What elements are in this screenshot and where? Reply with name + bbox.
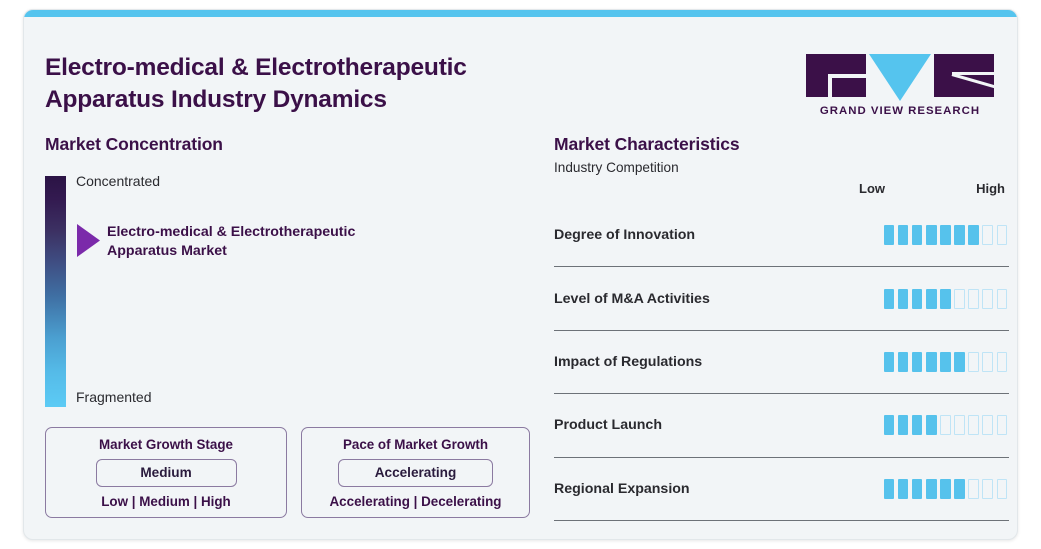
rating-segment-empty	[968, 289, 979, 309]
rating-segment-empty	[968, 352, 979, 372]
page-title: Electro-medical & Electrotherapeutic App…	[45, 52, 645, 116]
scale-low-label: Low	[859, 181, 885, 196]
rating-segment-filled	[898, 479, 909, 499]
market-characteristics-subheading: Industry Competition	[554, 160, 1009, 175]
market-position-label-line-2: Apparatus Market	[107, 242, 447, 261]
rating-segment-filled	[954, 479, 965, 499]
grand-view-research-logo: GRAND VIEW RESEARCH	[802, 54, 998, 117]
card-top-accent-bar	[24, 10, 1017, 17]
rating-segment-empty	[997, 415, 1008, 435]
market-position-label-line-1: Electro-medical & Electrotherapeutic	[107, 223, 447, 242]
scale-labels: Low High	[859, 181, 1009, 196]
market-characteristics-heading: Market Characteristics	[554, 134, 1009, 155]
characteristic-row: Level of M&A Activities	[554, 267, 1009, 329]
rating-segment-empty	[968, 479, 979, 499]
logo-r-icon	[934, 54, 994, 97]
characteristic-label: Level of M&A Activities	[554, 291, 710, 307]
logo-marks	[802, 54, 998, 98]
characteristic-rating-bars	[884, 289, 1009, 309]
characteristic-rating-bars	[884, 479, 1009, 499]
rating-segment-filled	[954, 352, 965, 372]
logo-wordmark: GRAND VIEW RESEARCH	[802, 105, 998, 117]
rating-segment-empty	[982, 352, 993, 372]
market-concentration-section: Market Concentration Concentrated Electr…	[45, 134, 525, 430]
pace-of-market-growth-value: Accelerating	[375, 465, 457, 480]
logo-g-icon	[806, 54, 866, 97]
rating-segment-filled	[912, 415, 923, 435]
characteristic-label: Degree of Innovation	[554, 227, 695, 243]
card-header: Electro-medical & Electrotherapeutic App…	[24, 17, 1017, 122]
market-growth-stage-value: Medium	[140, 465, 191, 480]
rating-segment-empty	[940, 415, 951, 435]
rating-segment-filled	[884, 289, 895, 309]
rating-segment-filled	[884, 479, 895, 499]
rating-segment-filled	[926, 415, 937, 435]
characteristic-rating-bars	[884, 415, 1009, 435]
characteristic-rating-bars	[884, 225, 1009, 245]
row-separator	[554, 520, 1009, 521]
market-position-arrow-icon	[77, 224, 100, 257]
rating-segment-filled	[926, 289, 937, 309]
rating-segment-empty	[982, 479, 993, 499]
market-position-label: Electro-medical & Electrotherapeutic App…	[107, 223, 447, 261]
rating-segment-filled	[954, 225, 965, 245]
pace-of-market-growth-value-chip: Accelerating	[338, 459, 493, 487]
characteristic-row: Regional Expansion	[554, 458, 1009, 520]
rating-segment-filled	[940, 479, 951, 499]
rating-segment-empty	[968, 415, 979, 435]
characteristic-row: Degree of Innovation	[554, 204, 1009, 266]
rating-segment-filled	[940, 352, 951, 372]
rating-segment-empty	[997, 479, 1008, 499]
characteristic-rating-bars	[884, 352, 1009, 372]
growth-stage-boxes: Market Growth Stage Medium Low | Medium …	[45, 427, 530, 518]
rating-segment-filled	[898, 415, 909, 435]
rating-segment-filled	[926, 352, 937, 372]
characteristics-rows: Degree of InnovationLevel of M&A Activit…	[554, 204, 1009, 521]
characteristic-row: Impact of Regulations	[554, 331, 1009, 393]
rating-segment-empty	[954, 289, 965, 309]
characteristic-label: Regional Expansion	[554, 481, 690, 497]
rating-segment-empty	[982, 289, 993, 309]
page-title-line-2: Apparatus Industry Dynamics	[45, 84, 645, 116]
rating-segment-filled	[884, 352, 895, 372]
logo-v-icon	[869, 54, 931, 101]
rating-segment-filled	[898, 289, 909, 309]
rating-segment-filled	[898, 225, 909, 245]
characteristic-label: Product Launch	[554, 417, 662, 433]
scale-high-label: High	[976, 181, 1009, 196]
rating-segment-filled	[884, 415, 895, 435]
rating-segment-empty	[982, 415, 993, 435]
characteristic-label: Impact of Regulations	[554, 354, 702, 370]
market-growth-stage-options: Low | Medium | High	[59, 494, 273, 509]
rating-segment-empty	[954, 415, 965, 435]
market-concentration-heading: Market Concentration	[45, 134, 525, 155]
rating-segment-filled	[940, 289, 951, 309]
rating-segment-filled	[912, 352, 923, 372]
concentration-top-label: Concentrated	[76, 173, 160, 189]
rating-segment-filled	[912, 225, 923, 245]
market-growth-stage-value-chip: Medium	[96, 459, 237, 487]
characteristic-row: Product Launch	[554, 394, 1009, 456]
rating-segment-filled	[968, 225, 979, 245]
pace-of-market-growth-options: Accelerating | Decelerating	[315, 494, 516, 509]
rating-segment-empty	[997, 289, 1008, 309]
rating-segment-empty	[997, 225, 1008, 245]
rating-segment-filled	[884, 225, 895, 245]
infographic-card: Electro-medical & Electrotherapeutic App…	[23, 9, 1018, 540]
market-growth-stage-title: Market Growth Stage	[59, 437, 273, 452]
rating-segment-filled	[926, 479, 937, 499]
market-growth-stage-box: Market Growth Stage Medium Low | Medium …	[45, 427, 287, 518]
rating-segment-filled	[940, 225, 951, 245]
rating-segment-filled	[912, 289, 923, 309]
concentration-bottom-label: Fragmented	[76, 389, 151, 405]
pace-of-market-growth-box: Pace of Market Growth Accelerating Accel…	[301, 427, 530, 518]
rating-segment-empty	[982, 225, 993, 245]
concentration-scale: Concentrated Electro-medical & Electroth…	[45, 176, 525, 430]
pace-of-market-growth-title: Pace of Market Growth	[315, 437, 516, 452]
market-characteristics-section: Market Characteristics Industry Competit…	[554, 134, 1009, 175]
page-title-line-1: Electro-medical & Electrotherapeutic	[45, 52, 645, 84]
rating-segment-filled	[898, 352, 909, 372]
rating-segment-filled	[926, 225, 937, 245]
rating-segment-empty	[997, 352, 1008, 372]
concentration-gradient-bar	[45, 176, 66, 407]
rating-segment-filled	[912, 479, 923, 499]
